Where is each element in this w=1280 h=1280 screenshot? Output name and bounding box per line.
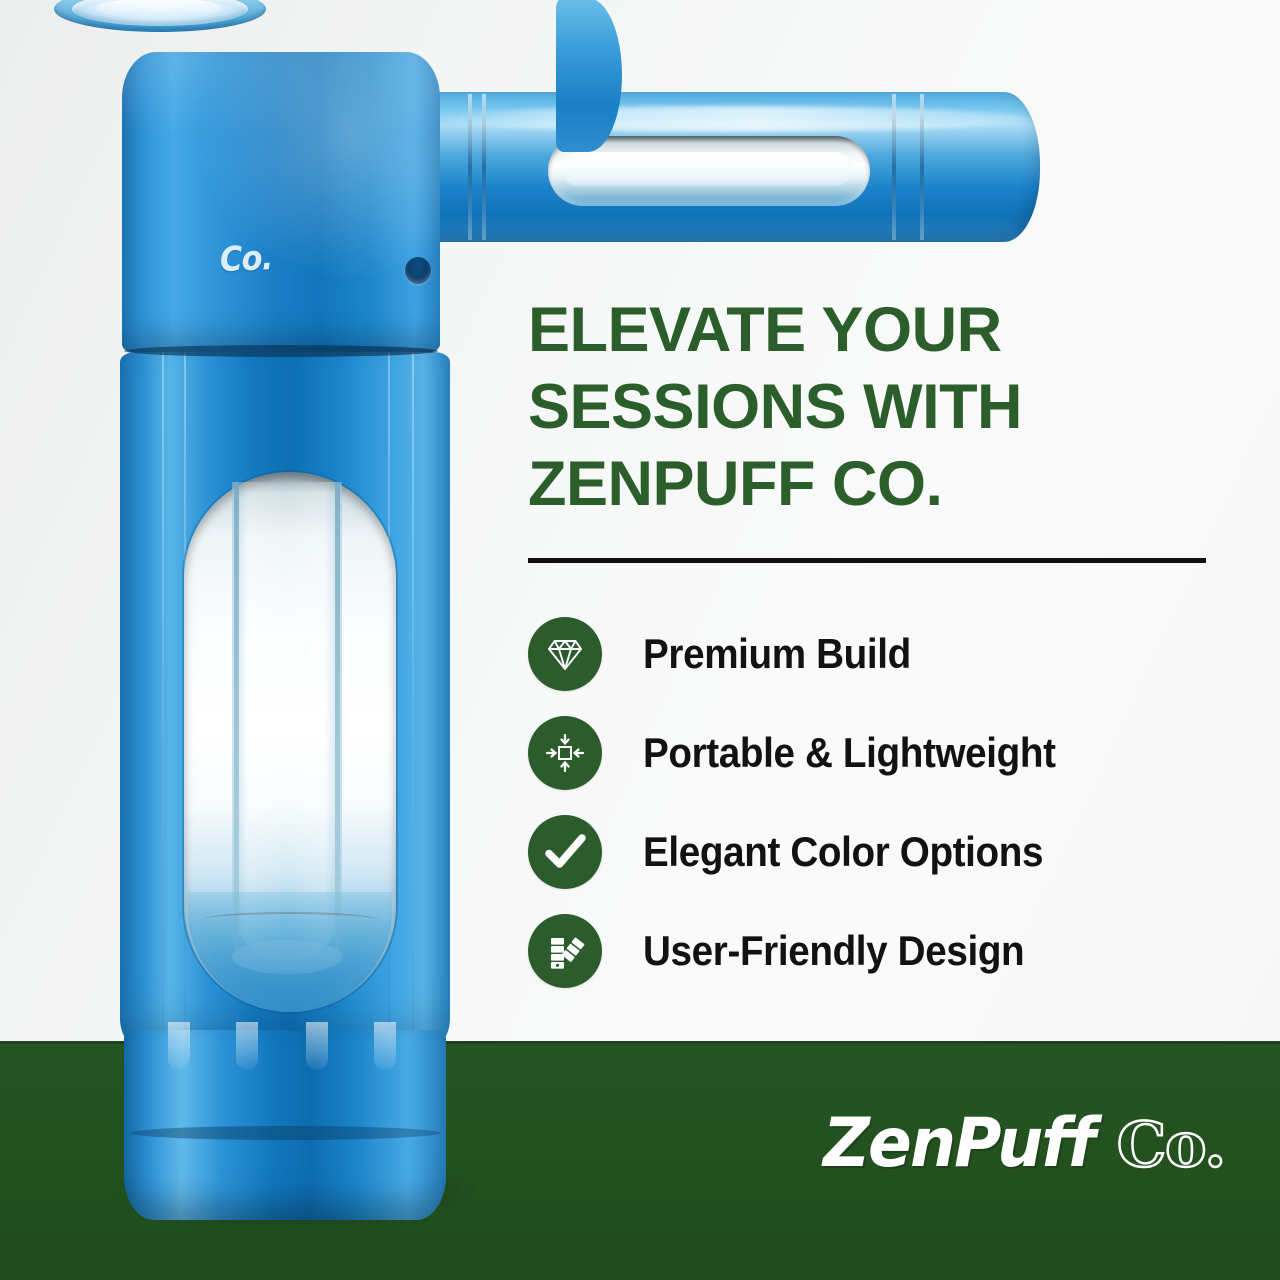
feature-item-elegant-color-options: Elegant Color Options	[528, 802, 1228, 901]
brand-logo: ZenPuff Co.	[816, 1104, 1225, 1184]
feature-label: Elegant Color Options	[643, 828, 1043, 876]
headline-line-3: ZENPUFF CO.	[528, 446, 1218, 523]
brand-logo-suffix: Co.	[1117, 1108, 1225, 1181]
headline-divider	[528, 558, 1206, 563]
brand-logo-name: ZenPuff	[823, 1104, 1094, 1183]
diamond-icon	[528, 617, 602, 691]
headline-line-1: ELEVATE YOUR	[528, 292, 1218, 369]
feature-label: Portable & Lightweight	[643, 729, 1056, 777]
headline: ELEVATE YOUR SESSIONS WITH ZENPUFF CO.	[528, 292, 1218, 523]
feature-label: User-Friendly Design	[643, 927, 1024, 975]
headline-line-2: SESSIONS WITH	[528, 369, 1218, 446]
color-swatch-icon	[528, 914, 602, 988]
feature-item-premium-build: Premium Build	[528, 604, 1228, 703]
check-icon	[528, 815, 602, 889]
product-marketing-banner: Co. ELEVATE YOUR SESSIONS WITH ZENPUFF C…	[0, 0, 1280, 1280]
feature-list: Premium Build	[528, 604, 1228, 1000]
compress-arrows-icon	[528, 716, 602, 790]
feature-label: Premium Build	[643, 630, 911, 678]
feature-item-portable-lightweight: Portable & Lightweight	[528, 703, 1228, 802]
feature-item-user-friendly-design: User-Friendly Design	[528, 901, 1228, 1000]
